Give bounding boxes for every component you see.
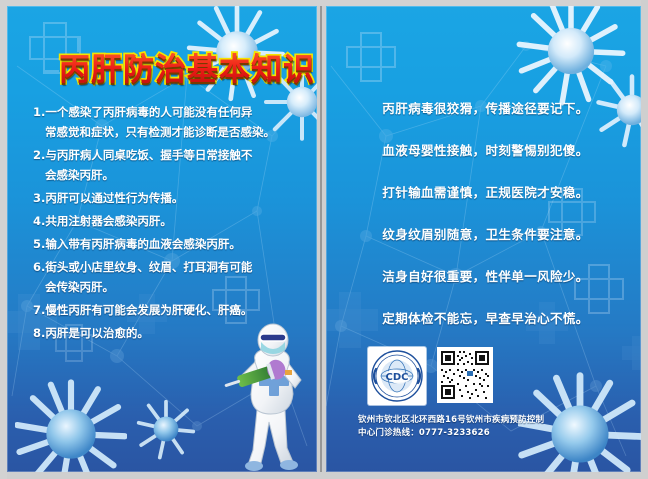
list-item-line2: 会传染丙肝。 [33,281,301,294]
list-item: 2.与丙肝病人同桌吃饭、握手等日常接触不 会感染丙肝。 [33,149,301,182]
qr-code-icon [437,347,493,403]
list-item-line1: 一个感染了丙肝病毒的人可能没有任何异 [45,105,252,119]
list-item-number: 6. [33,260,45,274]
list-item-number: 1. [33,105,45,119]
list-item-line2: 会感染丙肝。 [33,169,301,182]
panel-divider [320,4,322,474]
list-item-number: 5. [33,237,45,251]
cdc-logo: CDC [368,347,426,405]
list-item-line1: 丙肝可以通过性行为传播。 [45,191,183,205]
left-panel: 丙肝防治基本知识 丙肝防治基本知识 1.一个感染了丙肝病毒的人可能没有任何异 常… [7,6,317,472]
slogan-line: 纹身纹眉别随意，卫生条件要注意。 [348,227,623,242]
list-item: 6.街头或小店里纹身、纹眉、打耳洞有可能 会传染丙肝。 [33,261,301,294]
list-item: 3.丙肝可以通过性行为传播。 [33,192,301,205]
list-item-line1: 与丙肝病人同桌吃饭、握手等日常接触不 [45,148,252,162]
list-item-number: 4. [33,214,45,228]
list-item: 7.慢性丙肝有可能会发展为肝硬化、肝癌。 [33,304,301,317]
list-item-line1: 丙肝是可以治愈的。 [45,326,149,340]
frame-bottom-edge [0,472,648,479]
list-item: 4.共用注射器会感染丙肝。 [33,215,301,228]
page-title: 丙肝防治基本知识 丙肝防治基本知识 [59,50,309,90]
badge-row: CDC [368,347,493,405]
medical-cross-icon [346,32,392,78]
slogan-line: 定期体检不能忘，早查早治心不慌。 [348,311,623,326]
list-item-number: 7. [33,303,45,317]
list-item-line1: 输入带有丙肝病毒的血液会感染丙肝。 [45,237,241,251]
list-item-number: 2. [33,148,45,162]
knowledge-list: 1.一个感染了丙肝病毒的人可能没有任何异 常感觉和症状，只有检测才能诊断是否感染… [33,106,301,350]
poster-canvas: 丙肝防治基本知识 丙肝防治基本知识 1.一个感染了丙肝病毒的人可能没有任何异 常… [0,0,648,479]
medical-cross-icon [622,336,641,370]
slogan-line: 洁身自好很重要，性伴单一风险少。 [348,269,623,284]
list-item-line1: 慢性丙肝有可能会发展为肝硬化、肝癌。 [45,303,252,317]
list-item: 1.一个感染了丙肝病毒的人可能没有任何异 常感觉和症状，只有检测才能诊断是否感染… [33,106,301,139]
footer-address: 钦州市钦北区北环西路16号钦州市疾病预防控制 [358,414,588,427]
footer-hotline: 中心门诊热线：0777-3233626 [358,427,588,440]
list-item-number: 8. [33,326,45,340]
list-item-number: 3. [33,191,45,205]
frame-left-edge [0,0,7,479]
right-panel: 丙肝病毒很狡猾，传播途径要记下。 血液母婴性接触，时刻警惕别犯傻。 打针输血需谨… [326,6,641,472]
list-item-line2: 常感觉和症状，只有检测才能诊断是否感染。 [33,126,301,139]
doctor-figure-icon [223,322,317,472]
list-item-line1: 共用注射器会感染丙肝。 [45,214,172,228]
slogan-line: 丙肝病毒很狡猾，传播途径要记下。 [348,101,623,116]
list-item-line1: 街头或小店里纹身、纹眉、打耳洞有可能 [45,260,252,274]
slogan-line: 血液母婴性接触，时刻警惕别犯傻。 [348,143,623,158]
page-title-fill: 丙肝防治基本知识 [59,50,315,90]
cdc-logo-text: CDC [386,372,409,383]
slogan-list: 丙肝病毒很狡猾，传播途径要记下。 血液母婴性接触，时刻警惕别犯傻。 打针输血需谨… [348,101,623,353]
frame-right-edge [641,0,648,479]
frame-top-edge [0,0,648,6]
slogan-line: 打针输血需谨慎，正规医院才安稳。 [348,185,623,200]
list-item: 5.输入带有丙肝病毒的血液会感染丙肝。 [33,238,301,251]
footer-contact: 钦州市钦北区北环西路16号钦州市疾病预防控制 中心门诊热线：0777-32336… [358,414,588,440]
